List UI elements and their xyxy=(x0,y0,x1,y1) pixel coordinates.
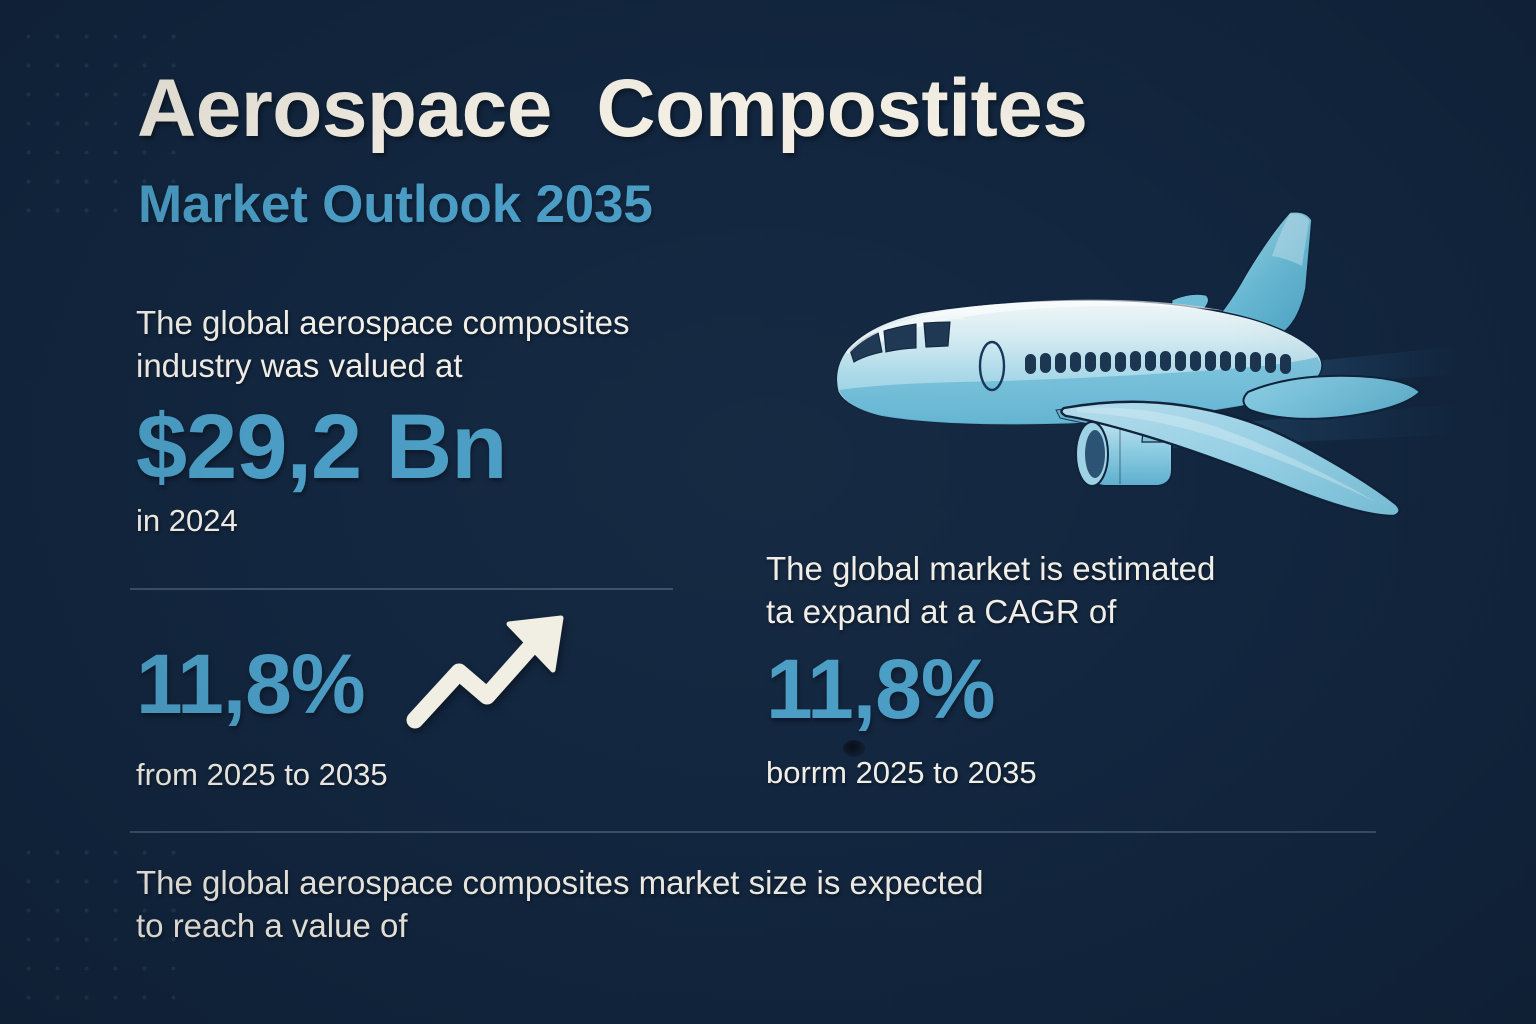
stat-block-market-value-2024: The global aerospace composites industry… xyxy=(136,302,836,539)
bottom-text-line-1: The global aerospace composites market s… xyxy=(136,862,1376,905)
cagr-left-stat: 11,8% xyxy=(136,642,365,726)
cagr-right-stat: 11,8% xyxy=(766,647,1386,731)
market-value-caption: in 2024 xyxy=(136,503,836,539)
infographic-canvas: Aerospace Compostites Market Outlook 203… xyxy=(0,0,1536,1024)
market-value-stat: $29,2 Bn xyxy=(136,401,836,493)
page-title: Aerospace Compostites xyxy=(137,68,1088,150)
page-subtitle: Market Outlook 2035 xyxy=(138,178,653,231)
cagr-left-stat-row: 11,8% xyxy=(136,632,736,735)
cagr-right-lead-text: The global market is estimated ta expand… xyxy=(766,548,1386,633)
divider-bottom xyxy=(130,831,1376,833)
market-value-lead-line-2: industry was valued at xyxy=(136,345,836,388)
stat-block-cagr-right: The global market is estimated ta expand… xyxy=(766,548,1386,791)
commercial-airplane-illustration xyxy=(820,196,1460,536)
cagr-right-caption: borrm 2025 to 2035 xyxy=(766,755,1386,791)
cagr-right-lead-line-1: The global market is estimated xyxy=(766,548,1386,591)
stat-block-cagr-left: 11,8% from 2025 to 2035 xyxy=(136,632,736,793)
market-value-lead-line-1: The global aerospace composites xyxy=(136,302,836,345)
bottom-text-line-2: to reach a value of xyxy=(136,905,1376,948)
trend-up-arrow-icon xyxy=(401,610,576,735)
bottom-text: The global aerospace composites market s… xyxy=(136,862,1376,947)
cagr-left-caption: from 2025 to 2035 xyxy=(136,757,736,793)
divider-left xyxy=(130,588,673,590)
market-value-lead-text: The global aerospace composites industry… xyxy=(136,302,836,387)
bottom-text-block: The global aerospace composites market s… xyxy=(136,862,1376,947)
cagr-right-lead-line-2: ta expand at a CAGR of xyxy=(766,591,1386,634)
